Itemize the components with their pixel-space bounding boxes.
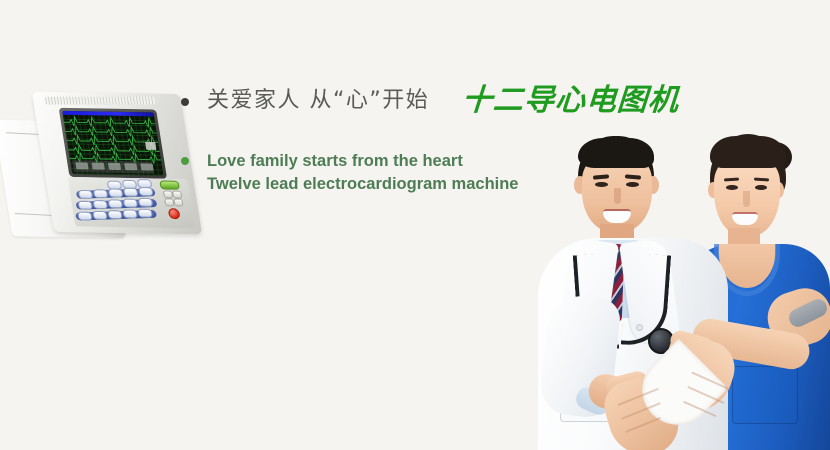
screen-status-cell	[108, 163, 121, 170]
people-gesture-label: hands-forming-heart-shape	[0, 0, 1, 1]
product-name-calligraphy: 十二导心电图机	[461, 82, 681, 120]
function-key	[107, 210, 123, 219]
doctor-fringe	[578, 138, 654, 168]
nurse-fringe	[710, 136, 786, 168]
photo-bottom-fade	[520, 428, 830, 450]
bullet-point-icon-1	[181, 98, 189, 106]
medical-staff-photo	[520, 128, 830, 450]
nav-key-down	[173, 198, 183, 206]
function-key	[138, 187, 154, 196]
function-key	[77, 212, 93, 221]
doctor-nose	[614, 188, 621, 204]
start-key	[159, 180, 180, 189]
nurse-scrubs-pocket	[732, 366, 798, 424]
device-screen	[62, 111, 163, 176]
function-key	[123, 199, 139, 208]
screen-status-cell	[75, 162, 88, 169]
function-key	[92, 211, 108, 220]
nurse-smile	[732, 212, 758, 225]
product-banner: 关爱家人 从“心”开始 十二导心电图机 Love family starts f…	[0, 0, 830, 450]
device-keypad	[68, 177, 196, 228]
device-label: twelve-lead-electrocardiograph	[0, 0, 1, 1]
nurse-nose	[743, 191, 750, 207]
english-tagline: Love family starts from the heart Twelve…	[207, 150, 519, 196]
function-key	[108, 199, 124, 208]
function-key	[93, 189, 109, 198]
function-key	[92, 200, 108, 209]
device-chassis	[32, 92, 202, 235]
function-key	[137, 209, 153, 218]
screen-logo-badge	[145, 142, 156, 150]
nav-key-right	[172, 191, 182, 199]
stop-key	[168, 208, 181, 219]
doctor-eye-right	[626, 182, 639, 187]
screen-status-bar	[72, 160, 154, 173]
function-key	[123, 188, 139, 197]
device-screen-bezel	[59, 108, 167, 179]
chinese-tagline: 关爱家人 从“心”开始	[207, 86, 429, 116]
doctor-eye-left	[595, 182, 608, 187]
function-key	[78, 190, 94, 199]
doctor-label: male-doctor	[0, 0, 1, 1]
nurse-label: female-nurse	[0, 0, 1, 1]
english-tagline-line-1: Love family starts from the heart	[207, 150, 519, 173]
ecg-machine-image	[4, 92, 190, 240]
coat-button	[636, 324, 643, 331]
function-key	[108, 188, 124, 197]
printer-slot	[45, 97, 156, 105]
bullet-point-icon-2	[181, 157, 189, 165]
screen-status-cell	[124, 163, 137, 170]
nurse-eye-left	[726, 185, 738, 190]
device-screen-label: ECG	[0, 0, 1, 1]
function-key	[122, 209, 138, 218]
function-key	[77, 201, 93, 210]
english-tagline-line-2: Twelve lead electrocardiogram machine	[207, 173, 519, 196]
screen-status-cell	[92, 163, 105, 170]
screen-status-cell	[140, 163, 153, 170]
function-key	[138, 198, 154, 207]
nurse-eye-right	[755, 185, 767, 190]
